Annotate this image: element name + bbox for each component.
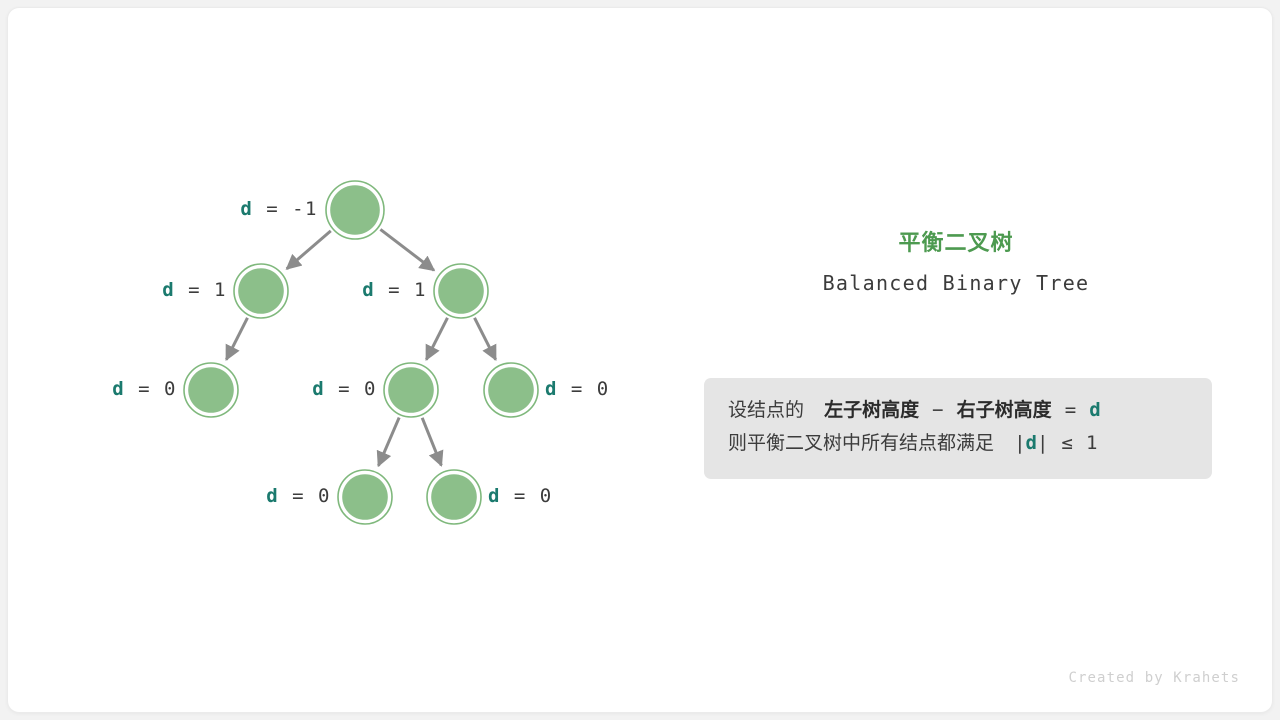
tree-edge <box>426 318 447 360</box>
tree-node[interactable] <box>384 363 438 417</box>
diagram-card: d = -1d = 1d = 1d = 0d = 0d = 0d = 0d = … <box>8 8 1272 712</box>
tree-edge <box>475 318 496 360</box>
label-value: = 0 <box>558 378 610 400</box>
tree-edge <box>422 418 441 466</box>
tree-node[interactable] <box>434 264 488 318</box>
tree-node[interactable] <box>338 470 392 524</box>
balance-factor-label: d = 0 <box>8 380 377 399</box>
label-value: = 0 <box>501 485 553 507</box>
page-subtitle: Balanced Binary Tree <box>696 271 1216 295</box>
tree-edge <box>378 418 399 466</box>
definition-line-2: 则平衡二叉树中所有结点都满足 |d| ≤ 1 <box>728 427 1188 460</box>
tree-edge <box>226 318 247 360</box>
credit-text: Created by Krahets <box>1068 670 1240 686</box>
label-variable-d: d <box>545 378 558 400</box>
balance-bound-value: 1 <box>1086 432 1097 454</box>
definition-box: 设结点的 左子树高度 − 右子树高度 = d 则平衡二叉树中所有结点都满足 |d… <box>704 378 1212 479</box>
balance-condition-prefix: 则平衡二叉树中所有结点都满足 <box>728 432 994 454</box>
node-fill <box>438 268 484 314</box>
label-value: = 0 <box>325 378 377 400</box>
tree-node[interactable] <box>326 181 384 239</box>
node-fill <box>342 474 388 520</box>
abs-bar-open: | <box>1014 432 1025 454</box>
balance-factor-label: d = 1 <box>8 281 427 300</box>
node-fill <box>388 367 434 413</box>
label-variable-d: d <box>488 485 501 507</box>
label-variable-d: d <box>266 485 279 507</box>
minus-operator: − <box>932 399 943 421</box>
less-or-equal-operator: ≤ <box>1061 432 1072 454</box>
binary-tree-graphic <box>8 8 1272 712</box>
balance-factor-label: d = 0 <box>545 380 610 399</box>
balance-factor-label: d = 0 <box>488 487 553 506</box>
page-title: 平衡二叉树 <box>696 230 1216 259</box>
node-fill <box>488 367 534 413</box>
left-subtree-height-term: 左子树高度 <box>824 399 919 421</box>
balance-factor-label: d = -1 <box>8 200 318 219</box>
label-variable-d: d <box>312 378 325 400</box>
label-value: = -1 <box>253 198 318 220</box>
node-fill <box>330 185 380 235</box>
tree-nodes <box>184 181 538 524</box>
label-value: = 0 <box>279 485 331 507</box>
page-background: d = -1d = 1d = 1d = 0d = 0d = 0d = 0d = … <box>0 0 1280 720</box>
tree-node[interactable] <box>427 470 481 524</box>
label-value: = 1 <box>375 279 427 301</box>
node-fill <box>431 474 477 520</box>
tree-edge <box>380 229 434 270</box>
label-variable-d: d <box>240 198 253 220</box>
balance-factor-label: d = 0 <box>8 487 331 506</box>
title-panel: 平衡二叉树 Balanced Binary Tree <box>696 230 1216 295</box>
tree-edge <box>287 231 331 269</box>
abs-bar-close: | <box>1037 432 1048 454</box>
balance-factor-variable: d <box>1089 399 1100 421</box>
definition-prefix: 设结点的 <box>728 399 804 421</box>
label-variable-d: d <box>362 279 375 301</box>
tree-node[interactable] <box>484 363 538 417</box>
equals-operator: = <box>1065 399 1076 421</box>
balance-factor-variable-abs: d <box>1026 432 1037 454</box>
right-subtree-height-term: 右子树高度 <box>957 399 1052 421</box>
definition-line-1: 设结点的 左子树高度 − 右子树高度 = d <box>728 394 1188 427</box>
